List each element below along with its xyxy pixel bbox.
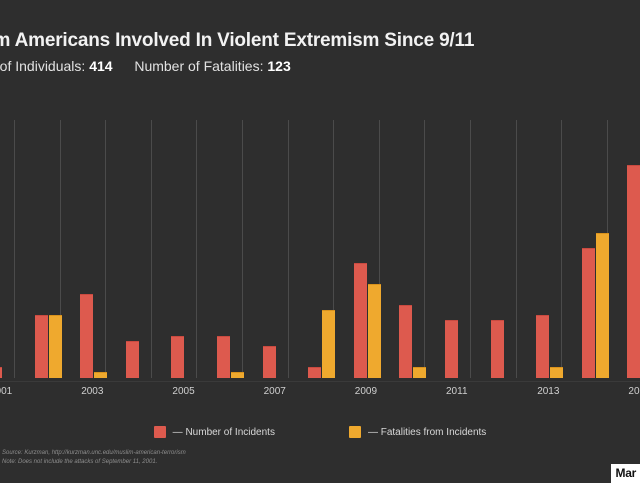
bar-fatalities-2013[interactable]	[550, 367, 563, 378]
x-tick-2005: 2005	[172, 386, 194, 397]
bar-fatalities-2002[interactable]	[49, 315, 62, 378]
bar-fatalities-2010[interactable]	[413, 367, 426, 378]
plot-area	[0, 120, 640, 382]
bar-incidents-2010[interactable]	[399, 305, 412, 378]
bar-incidents-2004[interactable]	[126, 341, 139, 378]
bar-incidents-2003[interactable]	[80, 294, 93, 378]
bar-incidents-2005[interactable]	[171, 336, 184, 378]
x-tick-2011: 2011	[446, 386, 468, 397]
x-tick-2007: 2007	[264, 386, 286, 397]
chart-footnote: Source: Kurzman, http://kurzman.unc.edu/…	[2, 449, 332, 467]
individuals-value: 414	[89, 58, 112, 74]
bar-incidents-2008[interactable]	[308, 367, 321, 378]
bar-series-group	[0, 120, 640, 378]
bar-fatalities-2009[interactable]	[368, 284, 381, 378]
legend-label-incidents: — Number of Incidents	[173, 427, 275, 438]
legend-swatch-fatalities-icon	[349, 426, 361, 438]
bar-incidents-2006[interactable]	[217, 336, 230, 378]
chart-screenshot: Muslim Americans Involved In Violent Ext…	[0, 0, 640, 480]
bar-fatalities-2003[interactable]	[94, 372, 107, 378]
watermark-logo: Mar	[611, 464, 640, 483]
legend-item-incidents[interactable]: — Number of Incidents	[154, 426, 275, 438]
bar-fatalities-2008[interactable]	[322, 310, 335, 378]
legend-label-fatalities: — Fatalities from Incidents	[368, 427, 486, 438]
fatalities-value: 123	[267, 58, 290, 74]
chart-legend: — Number of Incidents — Fatalities from …	[0, 422, 640, 442]
bar-incidents-2013[interactable]	[536, 315, 549, 378]
bar-incidents-2007[interactable]	[263, 346, 276, 378]
bar-incidents-2011[interactable]	[445, 320, 458, 378]
chart-subtitle: Number of Individuals: 414 Number of Fat…	[0, 58, 291, 74]
chart-title: Muslim Americans Involved In Violent Ext…	[0, 30, 474, 52]
fatalities-label: Number of Fatalities:	[134, 58, 263, 74]
bar-incidents-2009[interactable]	[354, 263, 367, 378]
bar-fatalities-2014[interactable]	[596, 233, 609, 378]
legend-swatch-incidents-icon	[154, 426, 166, 438]
bar-incidents-2015[interactable]	[627, 165, 640, 378]
bar-incidents-2014[interactable]	[582, 248, 595, 378]
chart-header: Muslim Americans Involved In Violent Ext…	[0, 0, 640, 86]
footnote-note: Note: Does not include the attacks of Se…	[2, 458, 332, 467]
bar-incidents-2001[interactable]	[0, 367, 2, 378]
x-tick-2009: 2009	[355, 386, 377, 397]
bar-fatalities-2006[interactable]	[231, 372, 244, 378]
x-axis-labels: 20012003200520072009201120132015	[0, 386, 640, 404]
axis-baseline	[0, 381, 640, 382]
individuals-label: Number of Individuals:	[0, 58, 85, 74]
x-tick-2003: 2003	[81, 386, 103, 397]
x-tick-2013: 2013	[537, 386, 559, 397]
footnote-source: Source: Kurzman, http://kurzman.unc.edu/…	[2, 449, 332, 458]
legend-item-fatalities[interactable]: — Fatalities from Incidents	[349, 426, 486, 438]
bar-incidents-2002[interactable]	[35, 315, 48, 378]
x-tick-2001: 2001	[0, 386, 12, 397]
bar-incidents-2012[interactable]	[491, 320, 504, 378]
x-tick-2015: 2015	[628, 386, 640, 397]
